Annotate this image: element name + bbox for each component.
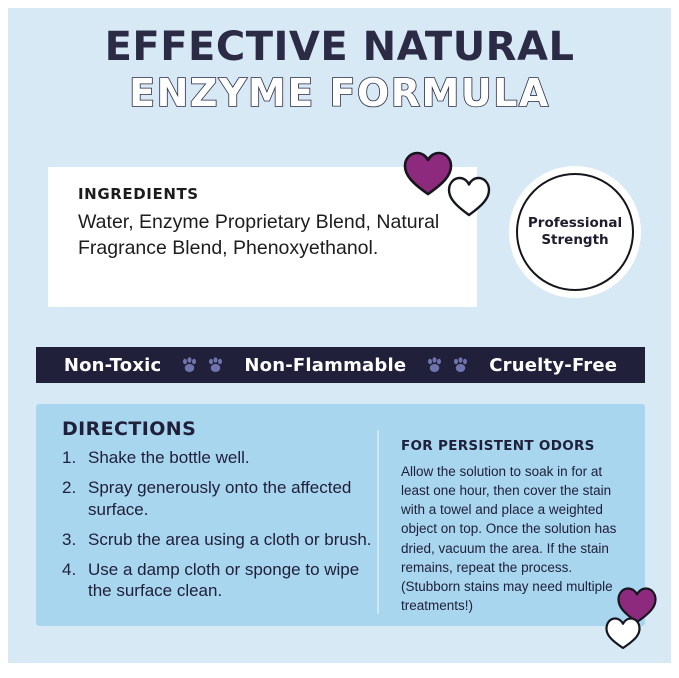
- direction-step-number: 1.: [62, 447, 88, 468]
- direction-step-text: Spray generously onto the affected surfa…: [88, 477, 377, 520]
- paw-separator-2: [406, 357, 489, 373]
- direction-step: 3. Scrub the area using a cloth or brush…: [62, 529, 377, 550]
- title-line-primary: EFFECTIVE NATURAL: [0, 26, 679, 69]
- page-title: EFFECTIVE NATURAL ENZYME FORMULA: [0, 26, 679, 114]
- paw-separator-1: [161, 357, 244, 373]
- directions-heading: DIRECTIONS: [62, 418, 377, 440]
- directions-card: DIRECTIONS 1. Shake the bottle well. 2. …: [36, 404, 645, 626]
- feature-non-toxic: Non-Toxic: [64, 355, 162, 376]
- paw-print-icon: [207, 357, 224, 373]
- persistent-odors-heading: FOR PERSISTENT ODORS: [401, 438, 629, 454]
- paw-print-icon: [181, 357, 198, 373]
- heart-outline-icon: [446, 175, 492, 217]
- professional-strength-badge: Professional Strength: [516, 173, 634, 291]
- direction-step-number: 4.: [62, 559, 88, 602]
- direction-step: 2. Spray generously onto the affected su…: [62, 477, 377, 520]
- feature-non-flammable: Non-Flammable: [244, 355, 406, 376]
- ingredients-list: Water, Enzyme Proprietary Blend, Natural…: [78, 210, 455, 261]
- paw-print-icon: [452, 357, 469, 373]
- paw-print-icon: [426, 357, 443, 373]
- direction-step-text: Use a damp cloth or sponge to wipe the s…: [88, 559, 377, 602]
- direction-step: 1. Shake the bottle well.: [62, 447, 377, 468]
- persistent-odors-column: FOR PERSISTENT ODORS Allow the solution …: [401, 438, 629, 615]
- heart-outline-icon: [604, 616, 642, 650]
- direction-step: 4. Use a damp cloth or sponge to wipe th…: [62, 559, 377, 602]
- product-infographic: EFFECTIVE NATURAL ENZYME FORMULA INGREDI…: [0, 0, 679, 678]
- badge-label: Professional Strength: [528, 215, 622, 249]
- persistent-odors-body: Allow the solution to soak in for at lea…: [401, 462, 629, 615]
- direction-step-text: Scrub the area using a cloth or brush.: [88, 529, 372, 550]
- direction-step-number: 2.: [62, 477, 88, 520]
- directions-column: DIRECTIONS 1. Shake the bottle well. 2. …: [62, 418, 377, 611]
- badge-label-line1: Professional: [528, 215, 622, 231]
- ingredients-heading: INGREDIENTS: [78, 185, 455, 203]
- direction-step-number: 3.: [62, 529, 88, 550]
- title-line-secondary: ENZYME FORMULA: [0, 73, 679, 114]
- feature-cruelty-free: Cruelty-Free: [489, 355, 617, 376]
- feature-banner: Non-Toxic Non-Flammable: [36, 347, 645, 383]
- column-divider: [377, 430, 379, 614]
- badge-label-line2: Strength: [541, 232, 608, 248]
- direction-step-text: Shake the bottle well.: [88, 447, 250, 468]
